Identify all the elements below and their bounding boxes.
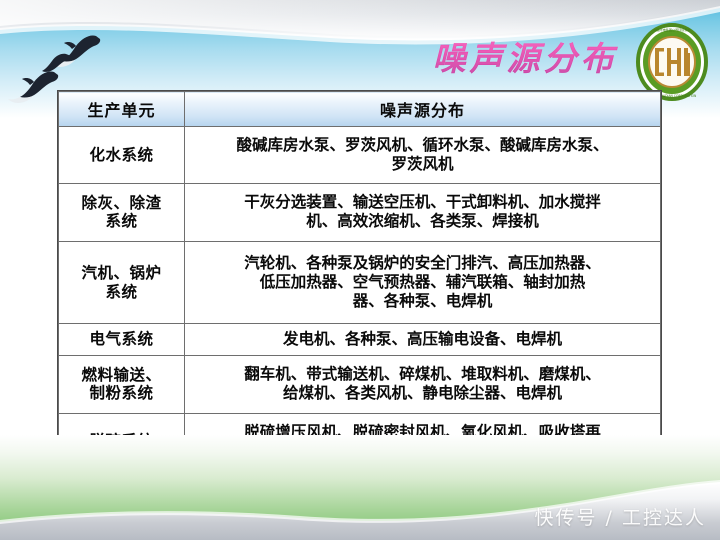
source-line: 翻车机、带式输送机、碎煤机、堆取料机、磨煤机、	[189, 365, 656, 384]
source-line: 器、各种泵、电焊机	[189, 292, 656, 311]
unit-line: 除灰、除渣	[81, 194, 161, 212]
svg-text:中国华电集团公司环境保护: 中国华电集团公司环境保护	[653, 27, 690, 32]
noise-source-table: 生产单元 噪声源分布 化水系统 酸碱库房水泵、罗茨风机、循环水泵、酸碱库房水泵、…	[58, 91, 661, 471]
source-line: 发电机、各种泵、高压输电设备、电焊机	[189, 330, 656, 349]
cell-sources: 干灰分选装置、输送空压机、干式卸料机、加水搅拌 机、高效浓缩机、各类泵、焊接机	[185, 184, 661, 241]
header-production-unit: 生产单元	[59, 92, 185, 127]
table-row: 除灰、除渣 系统 干灰分选装置、输送空压机、干式卸料机、加水搅拌 机、高效浓缩机…	[59, 184, 661, 241]
page-title: 噪声源分布	[433, 32, 618, 80]
source-line: 汽轮机、各种泵及锅炉的安全门排汽、高压加热器、	[189, 254, 656, 273]
table-row: 燃料输送、 制粉系统 翻车机、带式输送机、碎煤机、堆取料机、磨煤机、 给煤机、各…	[59, 356, 661, 413]
header-noise-distribution: 噪声源分布	[185, 92, 661, 127]
cell-sources: 汽轮机、各种泵及锅炉的安全门排汽、高压加热器、 低压加热器、空气预热器、辅汽联箱…	[185, 241, 661, 324]
source-line: 低压加热器、空气预热器、辅汽联箱、轴封加热	[189, 273, 656, 292]
table-header-row: 生产单元 噪声源分布	[59, 92, 661, 127]
cell-sources: 发电机、各种泵、高压输电设备、电焊机	[185, 324, 661, 356]
source-line: 干灰分选装置、输送空压机、干式卸料机、加水搅拌	[189, 193, 656, 212]
cell-unit: 除灰、除渣 系统	[59, 184, 185, 241]
cell-sources: 翻车机、带式输送机、碎煤机、堆取料机、磨煤机、 给煤机、各类风机、静电除尘器、电…	[185, 356, 661, 413]
slide-canvas: 噪声源分布 中国华电集团公司环境保护 CHINA HUADIAN	[0, 0, 720, 540]
cell-unit: 汽机、锅炉 系统	[59, 241, 185, 324]
unit-line: 系统	[105, 212, 137, 230]
watermark-text: 快传号 / 工控达人	[535, 503, 706, 530]
table-row: 化水系统 酸碱库房水泵、罗茨风机、循环水泵、酸碱库房水泵、 罗茨风机	[59, 127, 661, 184]
cell-unit: 电气系统	[59, 324, 185, 356]
source-line: 给煤机、各类风机、静电除尘器、电焊机	[189, 384, 656, 403]
unit-line: 汽机、锅炉	[81, 264, 161, 282]
source-line: 机、高效浓缩机、各类泵、焊接机	[189, 212, 656, 231]
cell-sources: 酸碱库房水泵、罗茨风机、循环水泵、酸碱库房水泵、 罗茨风机	[185, 127, 661, 184]
cell-unit: 燃料输送、 制粉系统	[59, 356, 185, 413]
unit-line: 系统	[105, 283, 137, 301]
table-row: 电气系统 发电机、各种泵、高压输电设备、电焊机	[59, 324, 661, 356]
table-row: 汽机、锅炉 系统 汽轮机、各种泵及锅炉的安全门排汽、高压加热器、 低压加热器、空…	[59, 241, 661, 324]
noise-source-table-container: 生产单元 噪声源分布 化水系统 酸碱库房水泵、罗茨风机、循环水泵、酸碱库房水泵、…	[57, 90, 662, 472]
source-line: 酸碱库房水泵、罗茨风机、循环水泵、酸碱库房水泵、	[189, 136, 656, 155]
unit-line: 燃料输送、	[81, 366, 161, 384]
slide-title-wrapper: 噪声源分布	[410, 30, 640, 82]
cell-unit: 化水系统	[59, 127, 185, 184]
source-line: 罗茨风机	[189, 155, 656, 174]
unit-line: 制粉系统	[89, 384, 153, 402]
